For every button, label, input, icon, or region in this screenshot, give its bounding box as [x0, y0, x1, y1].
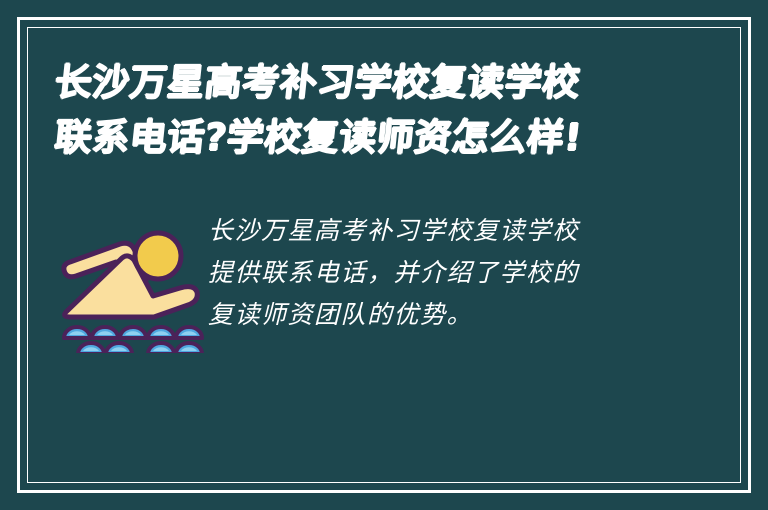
poster-canvas: 长沙万星高考补习学校复读学校 联系电话?学校复读师资怎么样!	[0, 0, 768, 510]
swimmer-figure	[64, 233, 197, 317]
page-title: 长沙万星高考补习学校复读学校 联系电话?学校复读师资怎么样!	[55, 55, 655, 165]
content-row: 长沙万星高考补习学校复读学校 提供联系电话，并介绍了学校的 复读师资团队的优势。	[0, 210, 768, 360]
title-line-1: 长沙万星高考补习学校复读学校	[52, 55, 658, 110]
description-line-3: 复读师资团队的优势。	[208, 294, 658, 336]
description-line-2: 提供联系电话，并介绍了学校的	[208, 252, 658, 294]
description-text: 长沙万星高考补习学校复读学校 提供联系电话，并介绍了学校的 复读师资团队的优势。	[208, 210, 658, 336]
swimmer-icon	[58, 218, 208, 353]
description-line-1: 长沙万星高考补习学校复读学校	[208, 210, 658, 252]
title-line-2: 联系电话?学校复读师资怎么样!	[52, 110, 658, 165]
water-waves	[64, 327, 202, 353]
